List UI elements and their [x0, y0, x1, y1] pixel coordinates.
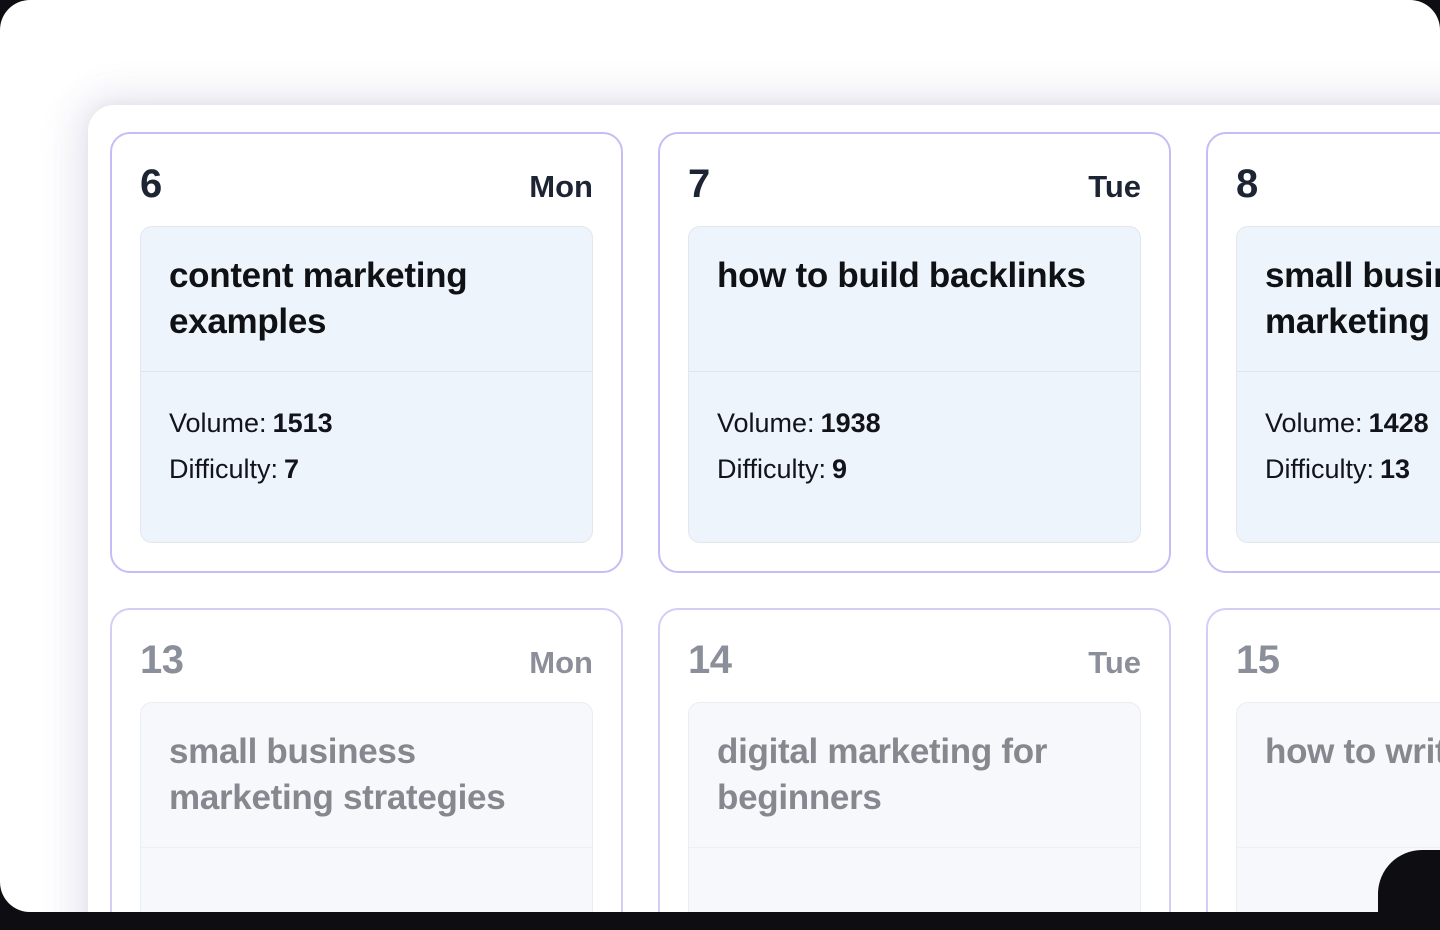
keyword-title: how to write blog posts	[1265, 729, 1440, 775]
volume-label: Volume:	[169, 408, 267, 438]
day-weekday: Tue	[1088, 647, 1141, 678]
day-weekday: Tue	[1088, 171, 1141, 202]
day-card-header: 7 Tue	[688, 164, 1141, 204]
keyword-box[interactable]: small business marketing strategies Volu…	[140, 702, 593, 912]
keyword-box[interactable]: how to build backlinks Volume:1938 Diffi…	[688, 226, 1141, 543]
day-card[interactable]: 15 how to write blog posts Volume: Diffi…	[1206, 608, 1440, 912]
keyword-title: how to build backlinks	[717, 253, 1112, 299]
keyword-title-wrap: digital marketing for beginners	[689, 703, 1140, 847]
keyword-box[interactable]: content marketing examples Volume:1513 D…	[140, 226, 593, 543]
day-card-header: 13 Mon	[140, 640, 593, 680]
difficulty-stat: Difficulty:9	[717, 446, 1112, 492]
keyword-title: small business marketing	[1265, 253, 1440, 345]
difficulty-label: Difficulty:	[1265, 454, 1374, 484]
keyword-stats: Volume:1428 Difficulty:13	[1237, 372, 1440, 542]
keyword-stats: Volume:1938 Difficulty:9	[689, 372, 1140, 542]
day-number: 6	[140, 164, 162, 204]
volume-label: Volume:	[1265, 408, 1363, 438]
day-number: 8	[1236, 164, 1258, 204]
difficulty-stat: Difficulty:7	[169, 446, 564, 492]
day-card[interactable]: 7 Tue how to build backlinks Volume:1938…	[658, 132, 1171, 573]
difficulty-label: Difficulty:	[717, 454, 826, 484]
keyword-title-wrap: small business marketing strategies	[141, 703, 592, 847]
keyword-title: small business marketing strategies	[169, 729, 564, 821]
day-card-header: 6 Mon	[140, 164, 593, 204]
difficulty-value: 13	[1380, 454, 1410, 484]
day-number: 14	[688, 640, 732, 680]
day-card[interactable]: 6 Mon content marketing examples Volume:…	[110, 132, 623, 573]
difficulty-label: Difficulty:	[169, 454, 278, 484]
day-card[interactable]: 13 Mon small business marketing strategi…	[110, 608, 623, 912]
volume-value: 1938	[821, 408, 881, 438]
volume-value: 1428	[1369, 408, 1429, 438]
keyword-box[interactable]: small business marketing Volume:1428 Dif…	[1236, 226, 1440, 543]
day-card-header: 14 Tue	[688, 640, 1141, 680]
keyword-title-wrap: how to write blog posts	[1237, 703, 1440, 847]
keyword-stats: Volume: Difficulty:	[689, 848, 1140, 912]
keyword-box[interactable]: how to write blog posts Volume: Difficul…	[1236, 702, 1440, 912]
volume-label: Volume:	[717, 408, 815, 438]
keyword-stats: Volume: Difficulty:	[141, 848, 592, 912]
volume-stat: Volume:1513	[169, 400, 564, 446]
keyword-title-wrap: small business marketing	[1237, 227, 1440, 371]
day-weekday: Mon	[529, 647, 593, 678]
day-number: 15	[1236, 640, 1280, 680]
volume-value: 1513	[273, 408, 333, 438]
page-frame: 6 Mon content marketing examples Volume:…	[0, 0, 1440, 912]
day-number: 13	[140, 640, 184, 680]
difficulty-value: 7	[284, 454, 299, 484]
keyword-box[interactable]: digital marketing for beginners Volume: …	[688, 702, 1141, 912]
keyword-stats: Volume: Difficulty:	[1237, 848, 1440, 912]
day-card[interactable]: 8 small business marketing Volume:1428 D…	[1206, 132, 1440, 573]
keyword-title-wrap: content marketing examples	[141, 227, 592, 371]
volume-stat: Volume:1938	[717, 400, 1112, 446]
day-card-header: 8	[1236, 164, 1440, 204]
keyword-title: content marketing examples	[169, 253, 564, 345]
calendar-panel: 6 Mon content marketing examples Volume:…	[88, 105, 1440, 912]
difficulty-stat: Difficulty:13	[1265, 446, 1440, 492]
volume-stat: Volume:1428	[1265, 400, 1440, 446]
keyword-title-wrap: how to build backlinks	[689, 227, 1140, 371]
difficulty-value: 9	[832, 454, 847, 484]
day-weekday: Mon	[529, 171, 593, 202]
day-card[interactable]: 14 Tue digital marketing for beginners V…	[658, 608, 1171, 912]
day-card-header: 15	[1236, 640, 1440, 680]
calendar-grid: 6 Mon content marketing examples Volume:…	[110, 132, 1440, 912]
keyword-title: digital marketing for beginners	[717, 729, 1112, 821]
day-number: 7	[688, 164, 710, 204]
keyword-stats: Volume:1513 Difficulty:7	[141, 372, 592, 542]
